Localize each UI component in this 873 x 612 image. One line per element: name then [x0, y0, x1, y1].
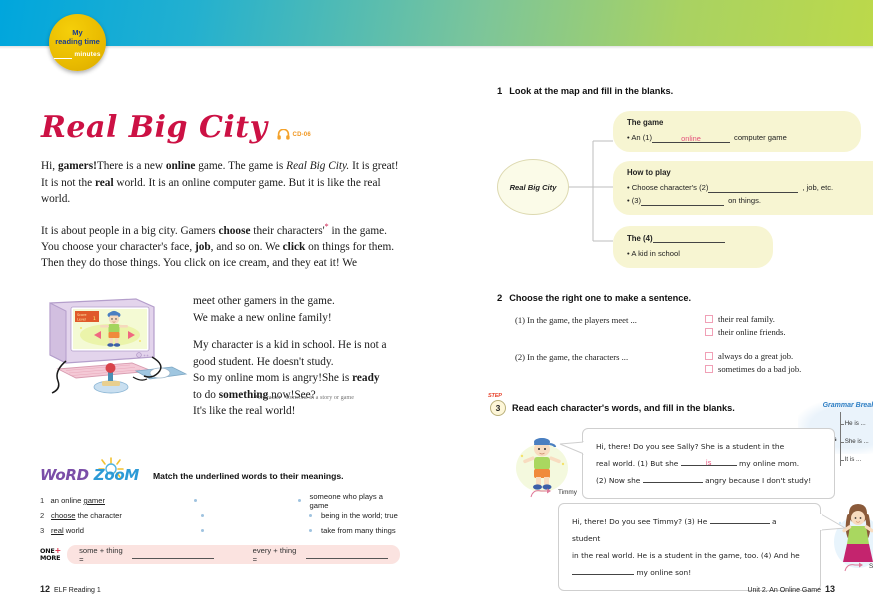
checkbox[interactable] — [705, 352, 713, 360]
match-dot-right[interactable] — [298, 499, 301, 502]
question-prompt: (1) In the game, the players meet ... — [515, 314, 705, 337]
bubble1-line3-post: angry because I don't study! — [705, 476, 811, 485]
one-more-badge: ONE+ MORE — [40, 547, 61, 562]
page-number-left: 12 — [40, 584, 50, 594]
match-right-meaning: someone who plays a game — [310, 492, 400, 510]
exercise-3-title: Read each character's words, and fill in… — [512, 403, 735, 413]
exercise-1-title: Look at the map and fill in the blanks. — [509, 86, 673, 96]
footnote: *charactersomeone in a story or game — [255, 394, 405, 401]
one-more-item1-label: some + thing = — [79, 546, 126, 564]
match-number: 1 — [40, 496, 51, 505]
question-prompt: (2) In the game, the characters ... — [515, 351, 705, 374]
mind-map-box-howtoplay: How to play • Choose character's (2) , j… — [613, 161, 873, 215]
bubble1-line2-post: my online mom. — [739, 459, 799, 468]
step-label: STEP — [488, 393, 502, 399]
footer-left: 12ELF Reading 1 — [40, 584, 101, 594]
word-zoom-logo: WoRD ZooM — [40, 466, 139, 484]
map-box-title-text: The (4) — [627, 234, 653, 243]
exercise-3: STEP 3 Read each character's words, and … — [490, 400, 873, 416]
match-dot-left[interactable] — [194, 499, 197, 502]
checkbox[interactable] — [705, 315, 713, 323]
exercise-2-header: 2 Choose the right one to make a sentenc… — [497, 293, 857, 304]
bubble2-line3-post: my online son! — [636, 568, 691, 577]
option-row[interactable]: always do a great job. — [705, 351, 801, 361]
page-title: Real Big City — [41, 110, 268, 145]
reading-passage-wrap-column: meet other gamers in the game.We make a … — [193, 293, 399, 431]
passage-paragraph-4: My character is a kid in school. He is n… — [193, 337, 399, 420]
map-blank-1[interactable]: online — [652, 133, 730, 143]
bubble1-line2-pre: real world. (1) But she — [596, 459, 678, 468]
bubble1-line2: real world. (1) But she is my online mom… — [596, 455, 821, 472]
question-options: their real family. their online friends. — [705, 314, 786, 337]
bubble1-tail — [558, 440, 586, 456]
map-box-line: • (3) on things. — [627, 194, 873, 207]
grammar-break-title: Grammar Break! — [798, 402, 873, 409]
one-more-item1-input[interactable] — [132, 550, 214, 559]
checkbox[interactable] — [705, 328, 713, 336]
map-blank-3[interactable] — [641, 196, 724, 206]
match-right-meaning: take from many things — [321, 526, 396, 535]
grammar-break-item: It is ... — [845, 456, 862, 463]
sally-pointer-arrow — [842, 560, 870, 574]
map-line-post: computer game — [734, 131, 787, 144]
map-box-title: How to play — [627, 168, 873, 177]
mind-map-center-node: Real Big City — [497, 159, 569, 215]
word-zoom-instruction: Match the underlined words to their mean… — [153, 471, 344, 481]
timmy-pointer-arrow — [528, 486, 558, 500]
word-zoom-logo-zoom: ZooM — [94, 466, 139, 484]
svg-text:Level: Level — [77, 318, 86, 322]
match-dot-left[interactable] — [201, 529, 204, 532]
question-block: (1) In the game, the players meet ... th… — [515, 314, 857, 337]
bubble1-line3-pre: (2) Now she — [596, 476, 640, 485]
exercise-1-number: 1 — [497, 86, 502, 97]
bubble1-blank-1[interactable]: is — [681, 456, 737, 466]
match-dot-right[interactable] — [309, 514, 312, 517]
speech-bubble-timmy: Hi, there! Do you see Sally? She is a st… — [582, 428, 835, 499]
match-number: 3 — [40, 526, 51, 535]
match-row[interactable]: 3 real world take from many things — [40, 523, 400, 538]
word-zoom-section: WoRD ZooM Match the underlined words to … — [40, 466, 400, 564]
question-block: (2) In the game, the characters ... alwa… — [515, 351, 857, 374]
match-row[interactable]: 1 an online gamer someone who plays a ga… — [40, 493, 400, 508]
match-row[interactable]: 2 choose the character being in the worl… — [40, 508, 400, 523]
map-box-title: The game — [627, 118, 847, 127]
headphone-icon — [277, 129, 290, 140]
map-line-post: , job, etc. — [802, 181, 833, 194]
one-more-item2-input[interactable] — [306, 550, 388, 559]
match-left-term: an online gamer — [51, 496, 195, 505]
audio-chip: CD-06 — [277, 129, 311, 145]
footnote-definition: someone in a story or game — [286, 394, 354, 401]
option-row[interactable]: their real family. — [705, 314, 786, 324]
word-zoom-header: WoRD ZooM Match the underlined words to … — [40, 466, 400, 485]
passage-paragraph-2: It is about people in a big city. Gamers… — [41, 219, 399, 272]
step-number: 3 — [496, 403, 501, 413]
bubble2-line1-pre: Hi, there! Do you see Timmy? (3) He — [572, 517, 707, 526]
question-options: always do a great job. sometimes do a ba… — [705, 351, 801, 374]
cd-label: CD-06 — [293, 132, 311, 138]
grammar-break-list: He is ... She is ... It is ... — [840, 412, 869, 466]
grammar-break-item: She is ... — [845, 438, 869, 445]
option-label: always do a great job. — [718, 351, 793, 361]
exercise-2: 2 Choose the right one to make a sentenc… — [497, 293, 857, 374]
exercise-1-header: 1 Look at the map and fill in the blanks… — [497, 86, 857, 97]
map-line-pre: • A kid in school — [627, 247, 680, 260]
bubble1-line1: Hi, there! Do you see Sally? She is a st… — [596, 438, 821, 455]
computer-illustration: Score Level 1 — [36, 295, 191, 395]
svg-text:1: 1 — [93, 316, 96, 322]
left-page: Real Big City CD-06 Hi, gamers!There is … — [0, 0, 440, 612]
svg-text:Score: Score — [77, 313, 87, 317]
unit-title-right: Unit 2. An Online Game — [747, 587, 821, 594]
exercise-2-number: 2 — [497, 293, 502, 304]
match-left-term: choose the character — [51, 511, 201, 520]
book-title-left: ELF Reading 1 — [54, 587, 101, 594]
map-line-post: on things. — [728, 194, 761, 207]
one-more-section: ONE+ MORE some + thing = every + thing = — [40, 545, 400, 564]
word-zoom-logo-word: WoRD — [40, 466, 89, 484]
word-zoom-match-list: 1 an online gamer someone who plays a ga… — [40, 493, 400, 538]
title-row: Real Big City CD-06 — [41, 110, 311, 145]
passage-paragraph-1: Hi, gamers!There is a new online game. T… — [41, 158, 399, 208]
map-answer-1: online — [652, 132, 730, 145]
map-blank-4[interactable] — [653, 233, 725, 243]
grammar-break-item: He is ... — [845, 420, 866, 427]
bubble1-line3: (2) Now she angry because I don't study! — [596, 472, 821, 489]
one-more-strip: some + thing = every + thing = — [67, 545, 400, 564]
option-label: their real family. — [718, 314, 775, 324]
option-label: their online friends. — [718, 327, 786, 337]
map-line-pre: • Choose character's (2) — [627, 181, 708, 194]
option-label: sometimes do a bad job. — [718, 364, 801, 374]
step-badge: STEP 3 — [490, 400, 506, 416]
footer-right: Unit 2. An Online Game13 — [747, 584, 835, 594]
bubble2-tail — [819, 512, 847, 532]
checkbox[interactable] — [705, 365, 713, 373]
match-right-meaning: being in the world; true — [321, 511, 398, 520]
map-line-pre: • (3) — [627, 194, 641, 207]
match-left-term: real world — [51, 526, 201, 535]
right-page: 1 Look at the map and fill in the blanks… — [440, 0, 873, 612]
passage-paragraph-3: meet other gamers in the game.We make a … — [193, 293, 399, 326]
bubble1-answer-1: is — [681, 454, 737, 471]
timmy-label: Timmy — [558, 489, 577, 496]
reading-passage: Hi, gamers!There is a new online game. T… — [41, 158, 399, 283]
one-more-badge-line2: MORE — [40, 555, 61, 562]
bubble2-line1: Hi, there! Do you see Timmy? (3) He a st… — [572, 513, 807, 547]
mind-map: Real Big City The game • An (1) online c… — [497, 111, 857, 261]
footnote-word: *character — [255, 394, 281, 401]
map-box-title: The (4) — [627, 233, 759, 243]
bubble2-blank-3[interactable] — [710, 514, 770, 524]
match-dot-left[interactable] — [201, 514, 204, 517]
bubble2-line2: in the real world. He is a student in th… — [572, 547, 807, 564]
bubble1-blank-2[interactable] — [643, 473, 703, 483]
mind-map-box-game: The game • An (1) online computer game — [613, 111, 861, 152]
mind-map-box-character: The (4) • A kid in school — [613, 226, 773, 268]
exercise-1: 1 Look at the map and fill in the blanks… — [497, 86, 857, 261]
option-row[interactable]: sometimes do a bad job. — [705, 364, 801, 374]
map-line-pre: • An (1) — [627, 131, 652, 144]
option-row[interactable]: their online friends. — [705, 327, 786, 337]
bubble2-blank-4[interactable] — [572, 565, 634, 575]
speech-bubble-sally: Hi, there! Do you see Timmy? (3) He a st… — [558, 503, 821, 591]
map-box-line: • Choose character's (2) , job, etc. — [627, 181, 873, 194]
map-box-line: • A kid in school — [627, 247, 759, 260]
one-more-item2-label: every + thing = — [253, 546, 300, 564]
map-box-line: • An (1) online computer game — [627, 131, 847, 144]
sally-label: Sally — [869, 563, 873, 570]
match-number: 2 — [40, 511, 51, 520]
bubble2-line3: my online son! — [572, 564, 807, 581]
exercise-2-title: Choose the right one to make a sentence. — [509, 293, 691, 303]
map-blank-2[interactable] — [708, 183, 798, 193]
page-number-right: 13 — [825, 584, 835, 594]
match-dot-right[interactable] — [309, 529, 312, 532]
